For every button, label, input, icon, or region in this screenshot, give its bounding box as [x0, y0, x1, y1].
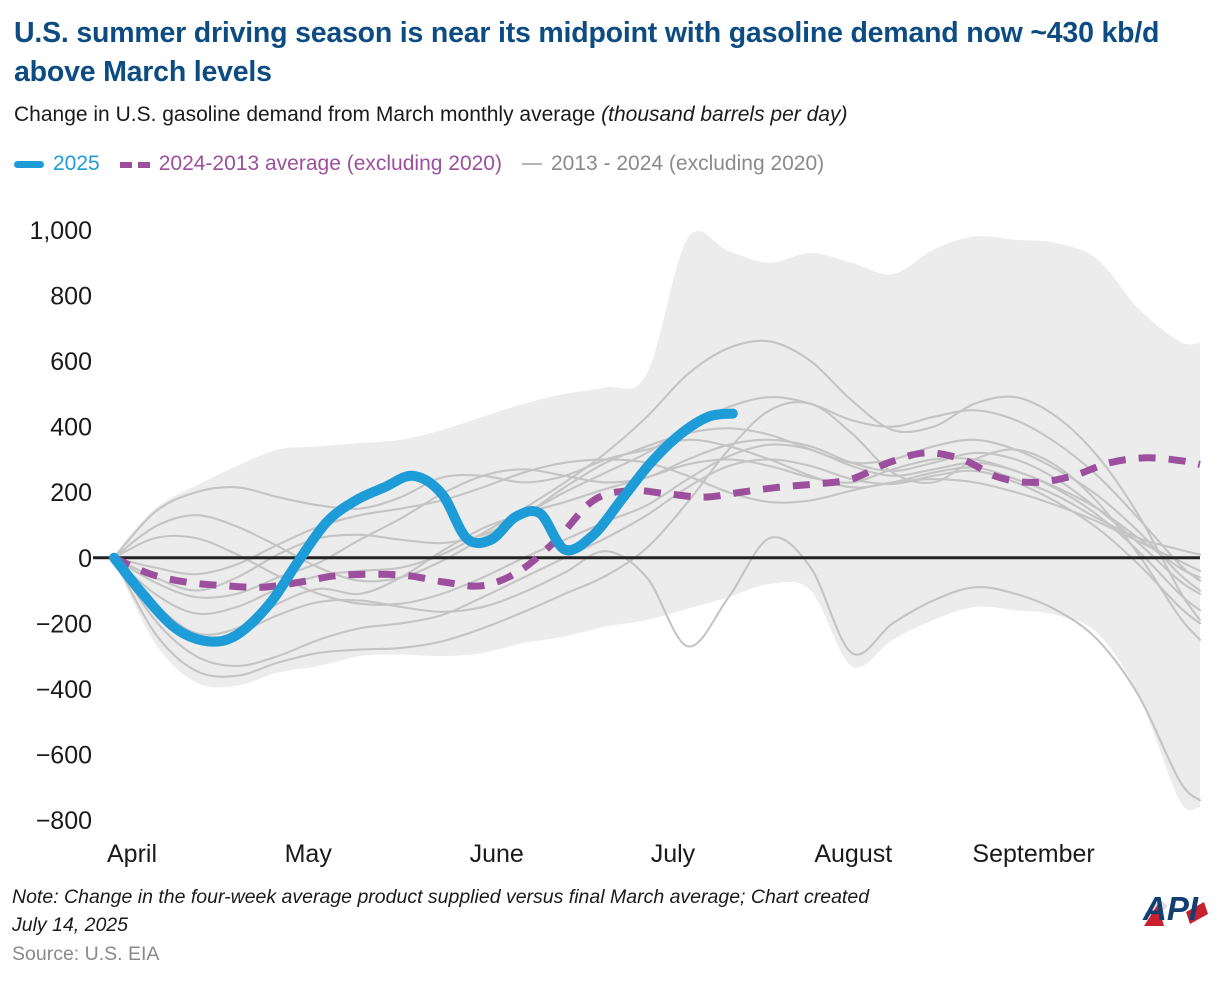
chart-plot-area: 1,0008006004002000−200−400−600−800 April… [0, 198, 1220, 870]
svg-text:API: API [1142, 890, 1199, 927]
legend-item-range[interactable]: 2013 - 2024 (excluding 2020) [520, 152, 824, 176]
legend-label-2025: 2025 [53, 152, 100, 176]
y-axis-tick-label: −600 [36, 741, 92, 769]
footer-source: Source: U.S. EIA [12, 943, 1122, 966]
y-axis-tick-label: 600 [50, 348, 92, 376]
y-axis-tick-label: 1,000 [29, 217, 92, 245]
y-axis-tick-label: 400 [50, 414, 92, 442]
y-axis-tick-label: −200 [36, 610, 92, 638]
footer-note-line1: Note: Change in the four-week average pr… [12, 884, 1122, 912]
y-axis-tick-label: 200 [50, 479, 92, 507]
api-logo-icon: API [1142, 884, 1214, 940]
chart-footer: Note: Change in the four-week average pr… [12, 884, 1122, 966]
x-axis-tick-label: May [285, 840, 333, 868]
legend-label-average: 2024-2013 average (excluding 2020) [159, 152, 502, 176]
x-axis-tick-group: AprilMayJuneJulyAugustSeptember [107, 840, 1095, 868]
x-axis-tick-label: July [651, 840, 696, 868]
y-axis-tick-label: 800 [50, 283, 92, 311]
legend-item-2025[interactable]: 2025 [12, 152, 100, 176]
legend-label-range: 2013 - 2024 (excluding 2020) [551, 152, 824, 176]
legend-swatch-solid-line-icon [12, 156, 46, 172]
footer-note: Note: Change in the four-week average pr… [12, 884, 1122, 939]
x-axis-tick-label: August [814, 840, 892, 868]
chart-legend: 2025 2024-2013 average (excluding 2020) … [12, 152, 842, 176]
page-title: U.S. summer driving season is near its m… [14, 14, 1204, 92]
subtitle-main-text: Change in U.S. gasoline demand from Marc… [14, 103, 601, 126]
chart-svg: 1,0008006004002000−200−400−600−800 April… [0, 198, 1220, 870]
chart-subtitle: Change in U.S. gasoline demand from Marc… [14, 102, 1204, 127]
footer-note-line2: July 14, 2025 [12, 912, 1122, 940]
y-axis-tick-label: −800 [36, 807, 92, 835]
x-axis-tick-label: April [107, 840, 157, 868]
legend-swatch-thin-line-icon [520, 156, 544, 172]
range-band-fill [114, 231, 1200, 810]
historical-range-band [114, 231, 1200, 810]
chart-page: U.S. summer driving season is near its m… [0, 0, 1220, 994]
subtitle-units-text: (thousand barrels per day) [601, 103, 847, 126]
legend-item-average[interactable]: 2024-2013 average (excluding 2020) [118, 152, 502, 176]
x-axis-tick-label: June [470, 840, 524, 868]
api-logo: API [1142, 884, 1214, 940]
x-axis-tick-label: September [972, 840, 1094, 868]
legend-swatch-dashed-line-icon [118, 156, 152, 172]
y-axis-tick-label: 0 [78, 545, 92, 573]
y-axis-tick-group: 1,0008006004002000−200−400−600−800 [29, 217, 92, 835]
y-axis-tick-label: −400 [36, 676, 92, 704]
